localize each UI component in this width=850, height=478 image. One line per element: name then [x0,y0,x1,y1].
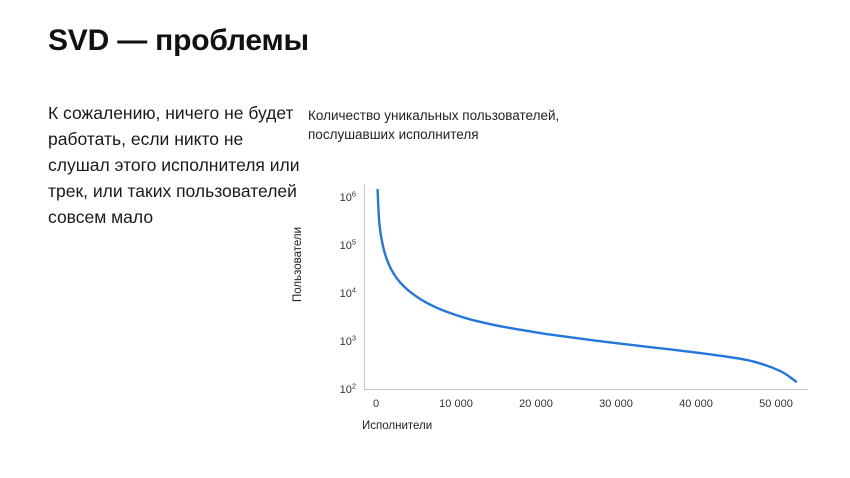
chart-y-tick-label: 102 [316,384,356,396]
chart-series-line [364,184,808,390]
chart-x-tick-label: 20 000 [519,398,553,410]
page-title: SVD — проблемы [48,24,309,58]
chart-container: Количество уникальных пользователей, пос… [308,106,828,446]
chart-x-tick-label: 40 000 [679,398,713,410]
chart-y-tick-label: 103 [316,336,356,348]
chart-y-axis-ticks: 102103104105106 [312,184,356,390]
chart-x-tick-label: 0 [373,398,379,410]
chart-y-axis-label: Пользователи [292,227,304,302]
chart-y-tick-label: 105 [316,240,356,252]
chart-x-tick-label: 50 000 [759,398,793,410]
body-paragraph: К сожалению, ничего не будет работать, е… [48,100,300,230]
chart-x-tick-label: 10 000 [439,398,473,410]
chart-x-axis-label: Исполнители [362,420,432,432]
chart-plot-area [364,184,808,390]
chart-y-tick-label: 104 [316,288,356,300]
chart-x-tick-label: 30 000 [599,398,633,410]
chart-y-tick-label: 106 [316,192,356,204]
chart-title: Количество уникальных пользователей, пос… [308,106,638,144]
chart-x-axis-ticks: 010 00020 00030 00040 00050 000 [364,398,808,414]
